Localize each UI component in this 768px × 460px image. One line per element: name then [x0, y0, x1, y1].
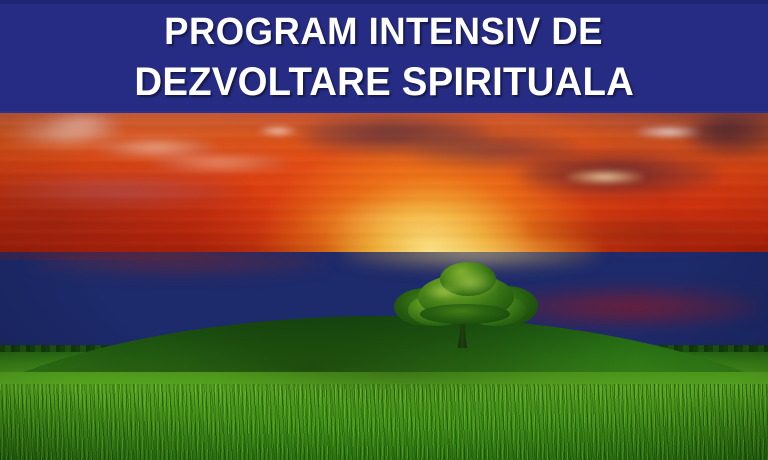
cloud-puff — [566, 170, 644, 184]
banner-bottom-edge — [0, 111, 768, 113]
cloud-puff — [0, 178, 240, 204]
poster-title: PROGRAM INTENSIV DE DEZVOLTARE SPIRITUAL… — [0, 0, 768, 113]
cloud-puff — [96, 139, 216, 157]
lone-tree — [392, 262, 540, 348]
cloud-puff — [258, 126, 298, 136]
title-line-1: PROGRAM INTENSIV DE — [165, 7, 604, 57]
grass-texture — [0, 384, 768, 460]
poster-image: PROGRAM INTENSIV DE DEZVOLTARE SPIRITUAL… — [0, 0, 768, 460]
tree-canopy-base — [420, 304, 510, 324]
cloud-puff — [30, 248, 330, 274]
tree-canopy-highlight — [426, 284, 460, 300]
title-line-2: DEZVOLTARE SPIRITUALA — [134, 57, 634, 107]
cloud-puff — [48, 115, 118, 131]
title-banner: PROGRAM INTENSIV DE DEZVOLTARE SPIRITUAL… — [0, 0, 768, 113]
cloud-puff — [150, 155, 290, 171]
cloud-puff — [300, 208, 530, 234]
